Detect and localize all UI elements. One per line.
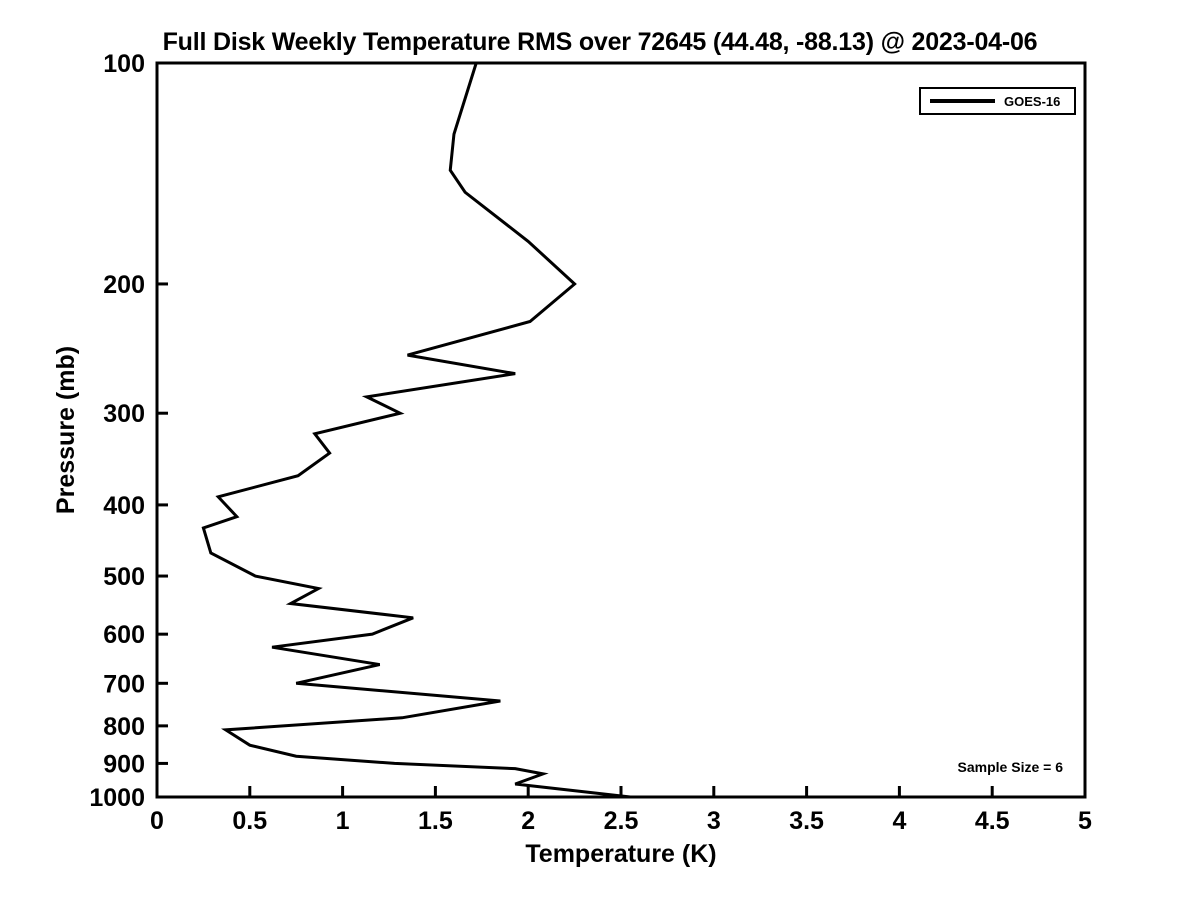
x-tick-label: 1 bbox=[336, 807, 350, 835]
x-tick-label: 2 bbox=[521, 807, 535, 835]
legend[interactable]: GOES-16 bbox=[920, 88, 1075, 114]
temperature-rms-profile-plot: 00.511.522.533.544.55 100200300400500600… bbox=[0, 0, 1200, 900]
y-tick-label: 900 bbox=[103, 750, 145, 778]
y-tick-label: 100 bbox=[103, 50, 145, 78]
y-tick-label: 700 bbox=[103, 670, 145, 698]
x-tick-label: 0 bbox=[150, 807, 164, 835]
x-tick-label: 2.5 bbox=[604, 807, 639, 835]
sample-size-annotation: Sample Size = 6 bbox=[958, 759, 1064, 775]
x-tick-label: 4 bbox=[892, 807, 906, 835]
x-tick-label: 5 bbox=[1078, 807, 1092, 835]
legend-item-label: GOES-16 bbox=[1004, 94, 1060, 109]
x-axis-tick-labels: 00.511.522.533.544.55 bbox=[150, 807, 1092, 835]
plot-frame bbox=[157, 63, 1085, 797]
y-axis-title: Pressure (mb) bbox=[52, 346, 80, 514]
x-tick-label: 0.5 bbox=[232, 807, 267, 835]
y-tick-label: 600 bbox=[103, 621, 145, 649]
y-tick-label: 1000 bbox=[89, 784, 145, 812]
goes16-data-line bbox=[203, 63, 630, 797]
y-axis-tick-labels: 1002003004005006007008009001000 bbox=[89, 50, 145, 812]
y-tick-label: 200 bbox=[103, 271, 145, 299]
y-tick-label: 800 bbox=[103, 713, 145, 741]
x-tick-label: 4.5 bbox=[975, 807, 1010, 835]
x-axis-title: Temperature (K) bbox=[525, 840, 716, 868]
y-tick-label: 300 bbox=[103, 400, 145, 428]
chart-figure: Full Disk Weekly Temperature RMS over 72… bbox=[0, 0, 1200, 900]
y-tick-label: 400 bbox=[103, 492, 145, 520]
y-tick-label: 500 bbox=[103, 563, 145, 591]
x-tick-label: 3.5 bbox=[789, 807, 824, 835]
x-tick-label: 1.5 bbox=[418, 807, 453, 835]
y-axis-ticks bbox=[157, 63, 168, 797]
x-tick-label: 3 bbox=[707, 807, 721, 835]
